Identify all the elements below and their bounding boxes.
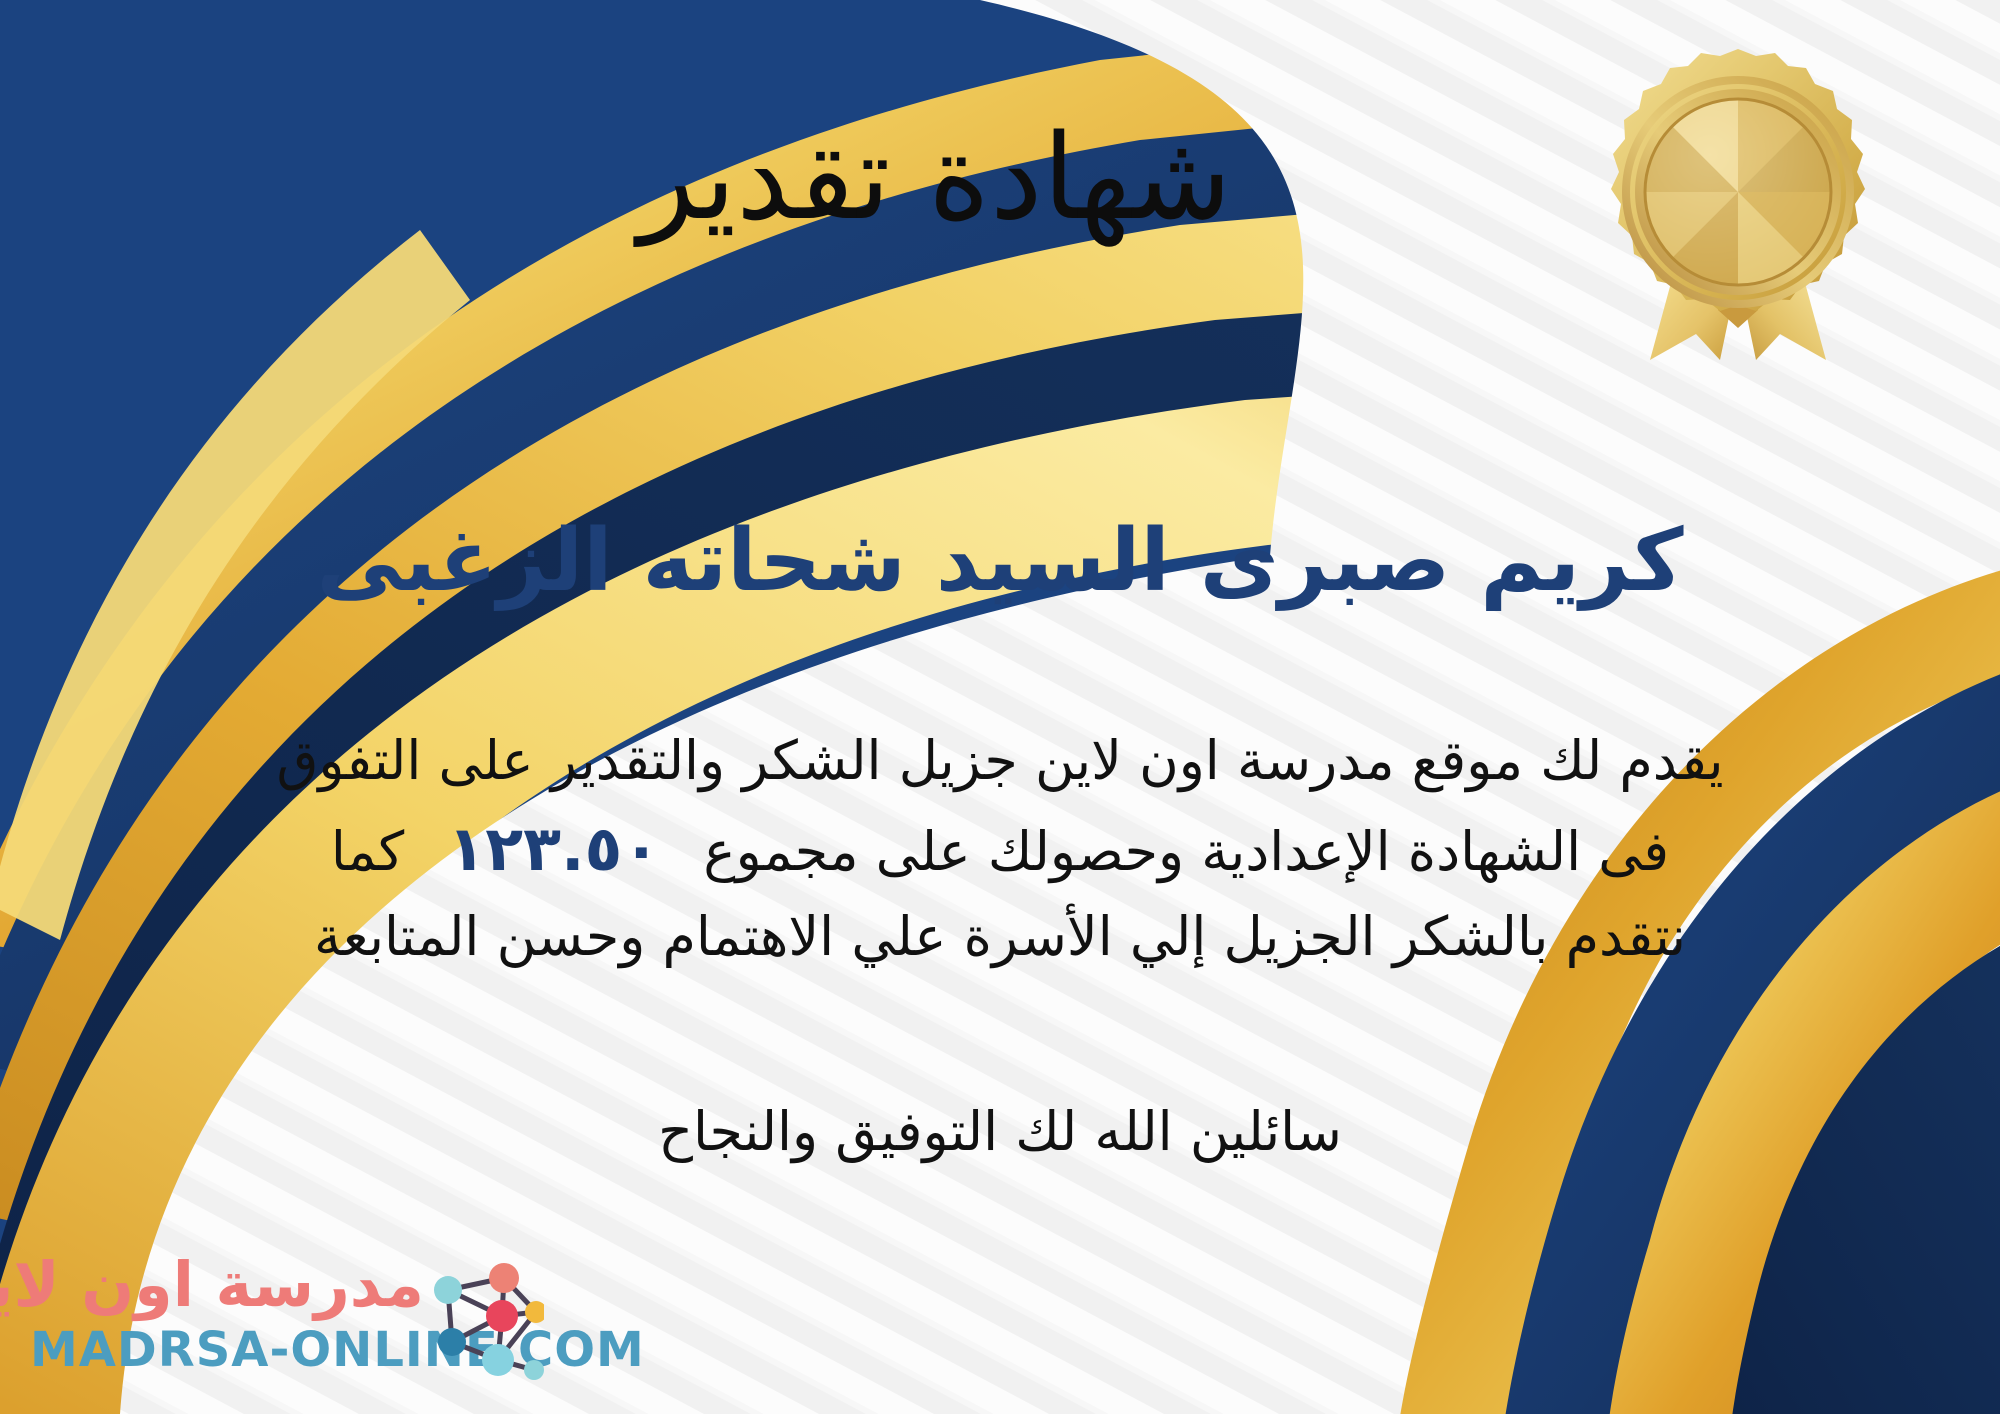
certificate-document: شهادة تقدير [0, 0, 2000, 1414]
closing-line: سائلين الله لك التوفيق والنجاح [0, 1100, 2000, 1163]
body-line-2-suffix: كما [331, 820, 404, 883]
body-line-1: يقدم لك موقع مدرسة اون لاين جزيل الشكر و… [60, 720, 1940, 802]
logo-arabic-text: مدرسة اون لاين [0, 1248, 424, 1321]
body-line-2: فى الشهادة الإعدادية وحصولك على مجموع ١٢… [60, 802, 1940, 896]
body-line-3: نتقدم بالشكر الجزيل إلي الأسرة علي الاهت… [60, 896, 1940, 978]
logo-domain-text: MADRSA-ONLINE.COM [30, 1322, 645, 1378]
body-line-2-prefix: فى الشهادة الإعدادية وحصولك على مجموع [703, 820, 1669, 883]
recipient-name: كريم صبرى السيد شحاته الزغبى [0, 510, 2000, 613]
certificate-body-text: يقدم لك موقع مدرسة اون لاين جزيل الشكر و… [60, 720, 1940, 978]
site-logo[interactable]: مدرسة اون لاين MADRSA-ONLINE.COM [24, 1246, 544, 1396]
gold-award-medal-icon [1588, 42, 1888, 362]
grade-total-value: ١٢٣.٥٠ [421, 812, 686, 885]
network-nodes-icon [426, 1250, 544, 1385]
